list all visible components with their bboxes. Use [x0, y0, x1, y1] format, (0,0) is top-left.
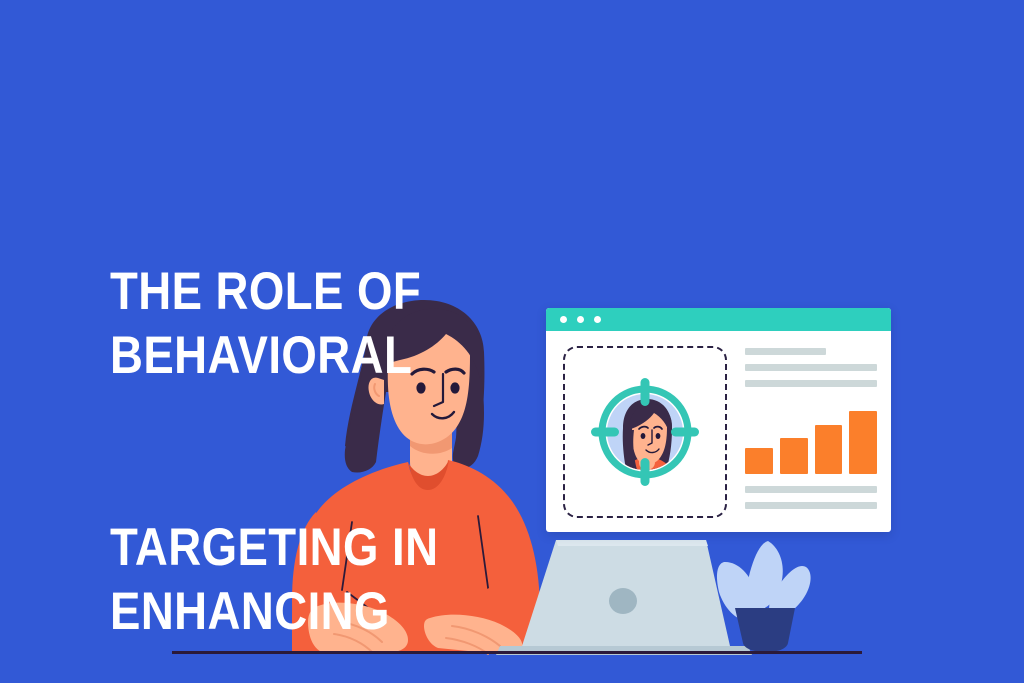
browser-titlebar [546, 308, 891, 331]
placeholder-text-line [745, 348, 826, 355]
window-minimize-dot-icon[interactable] [577, 316, 584, 323]
bar-chart-bar [815, 425, 843, 474]
target-reticle-icon [583, 370, 707, 494]
placeholder-text-line [745, 502, 877, 509]
browser-content [546, 331, 891, 532]
analytics-content-panel [745, 346, 877, 518]
placeholder-text-line [745, 380, 877, 387]
poster-canvas: THE ROLE OF BEHAVIORAL TARGETING IN ENHA… [0, 0, 1024, 683]
placeholder-text-line [745, 364, 877, 371]
browser-window-mockup [546, 308, 891, 532]
bar-chart-bar [849, 411, 877, 474]
bar-chart-bar [780, 438, 808, 474]
audience-target-panel [563, 346, 727, 518]
bar-chart-bar [745, 448, 773, 474]
window-maximize-dot-icon[interactable] [594, 316, 601, 323]
window-close-dot-icon[interactable] [560, 316, 567, 323]
reticle-tick-right [671, 428, 699, 437]
reticle-tick-top [641, 378, 650, 406]
plant [717, 541, 811, 652]
placeholder-text-line [745, 486, 877, 493]
plant-pot [735, 608, 795, 652]
reticle-tick-bottom [641, 458, 650, 486]
bar-chart [745, 406, 877, 474]
reticle-tick-left [591, 428, 619, 437]
headline-line-2: TARGETING IN ENHANCING [110, 516, 678, 644]
